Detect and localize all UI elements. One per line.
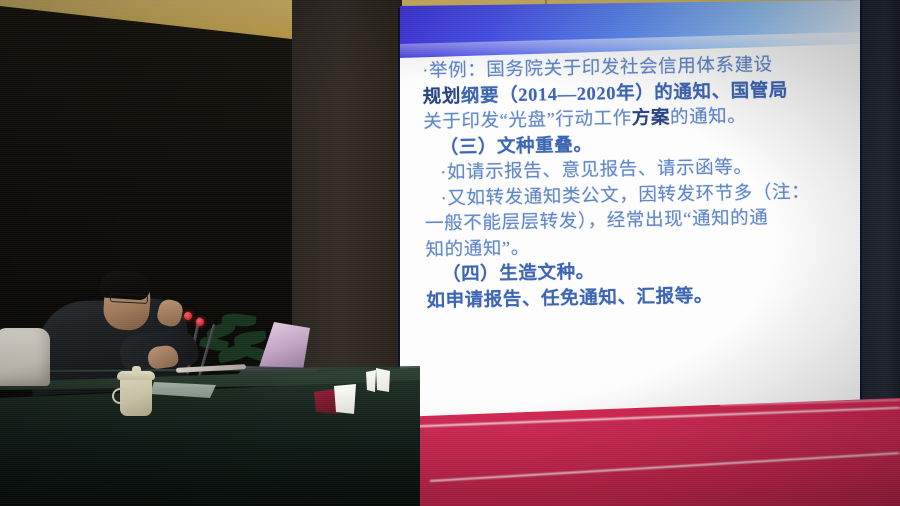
table-skirt: [0, 380, 420, 506]
eyeglasses-icon: [110, 293, 148, 304]
teacup-knob: [132, 366, 141, 373]
nameplate-card-back-right: [376, 368, 390, 392]
teacup: [120, 376, 152, 416]
slide-content: ·举例：国务院关于印发社会信用体系建设 规划纲要（2014—2020年）的通知、…: [404, 48, 866, 406]
microphone-tip-left: [184, 312, 192, 320]
nameplate-card-front: [334, 384, 356, 414]
microphone-tip-right: [196, 318, 204, 326]
teacup-handle: [112, 388, 124, 404]
nameplate-card-back-left: [366, 370, 376, 392]
screenshot-root: ·举例：国务院关于印发社会信用体系建设 规划纲要（2014—2020年）的通知、…: [0, 0, 900, 506]
chair: [0, 328, 50, 386]
